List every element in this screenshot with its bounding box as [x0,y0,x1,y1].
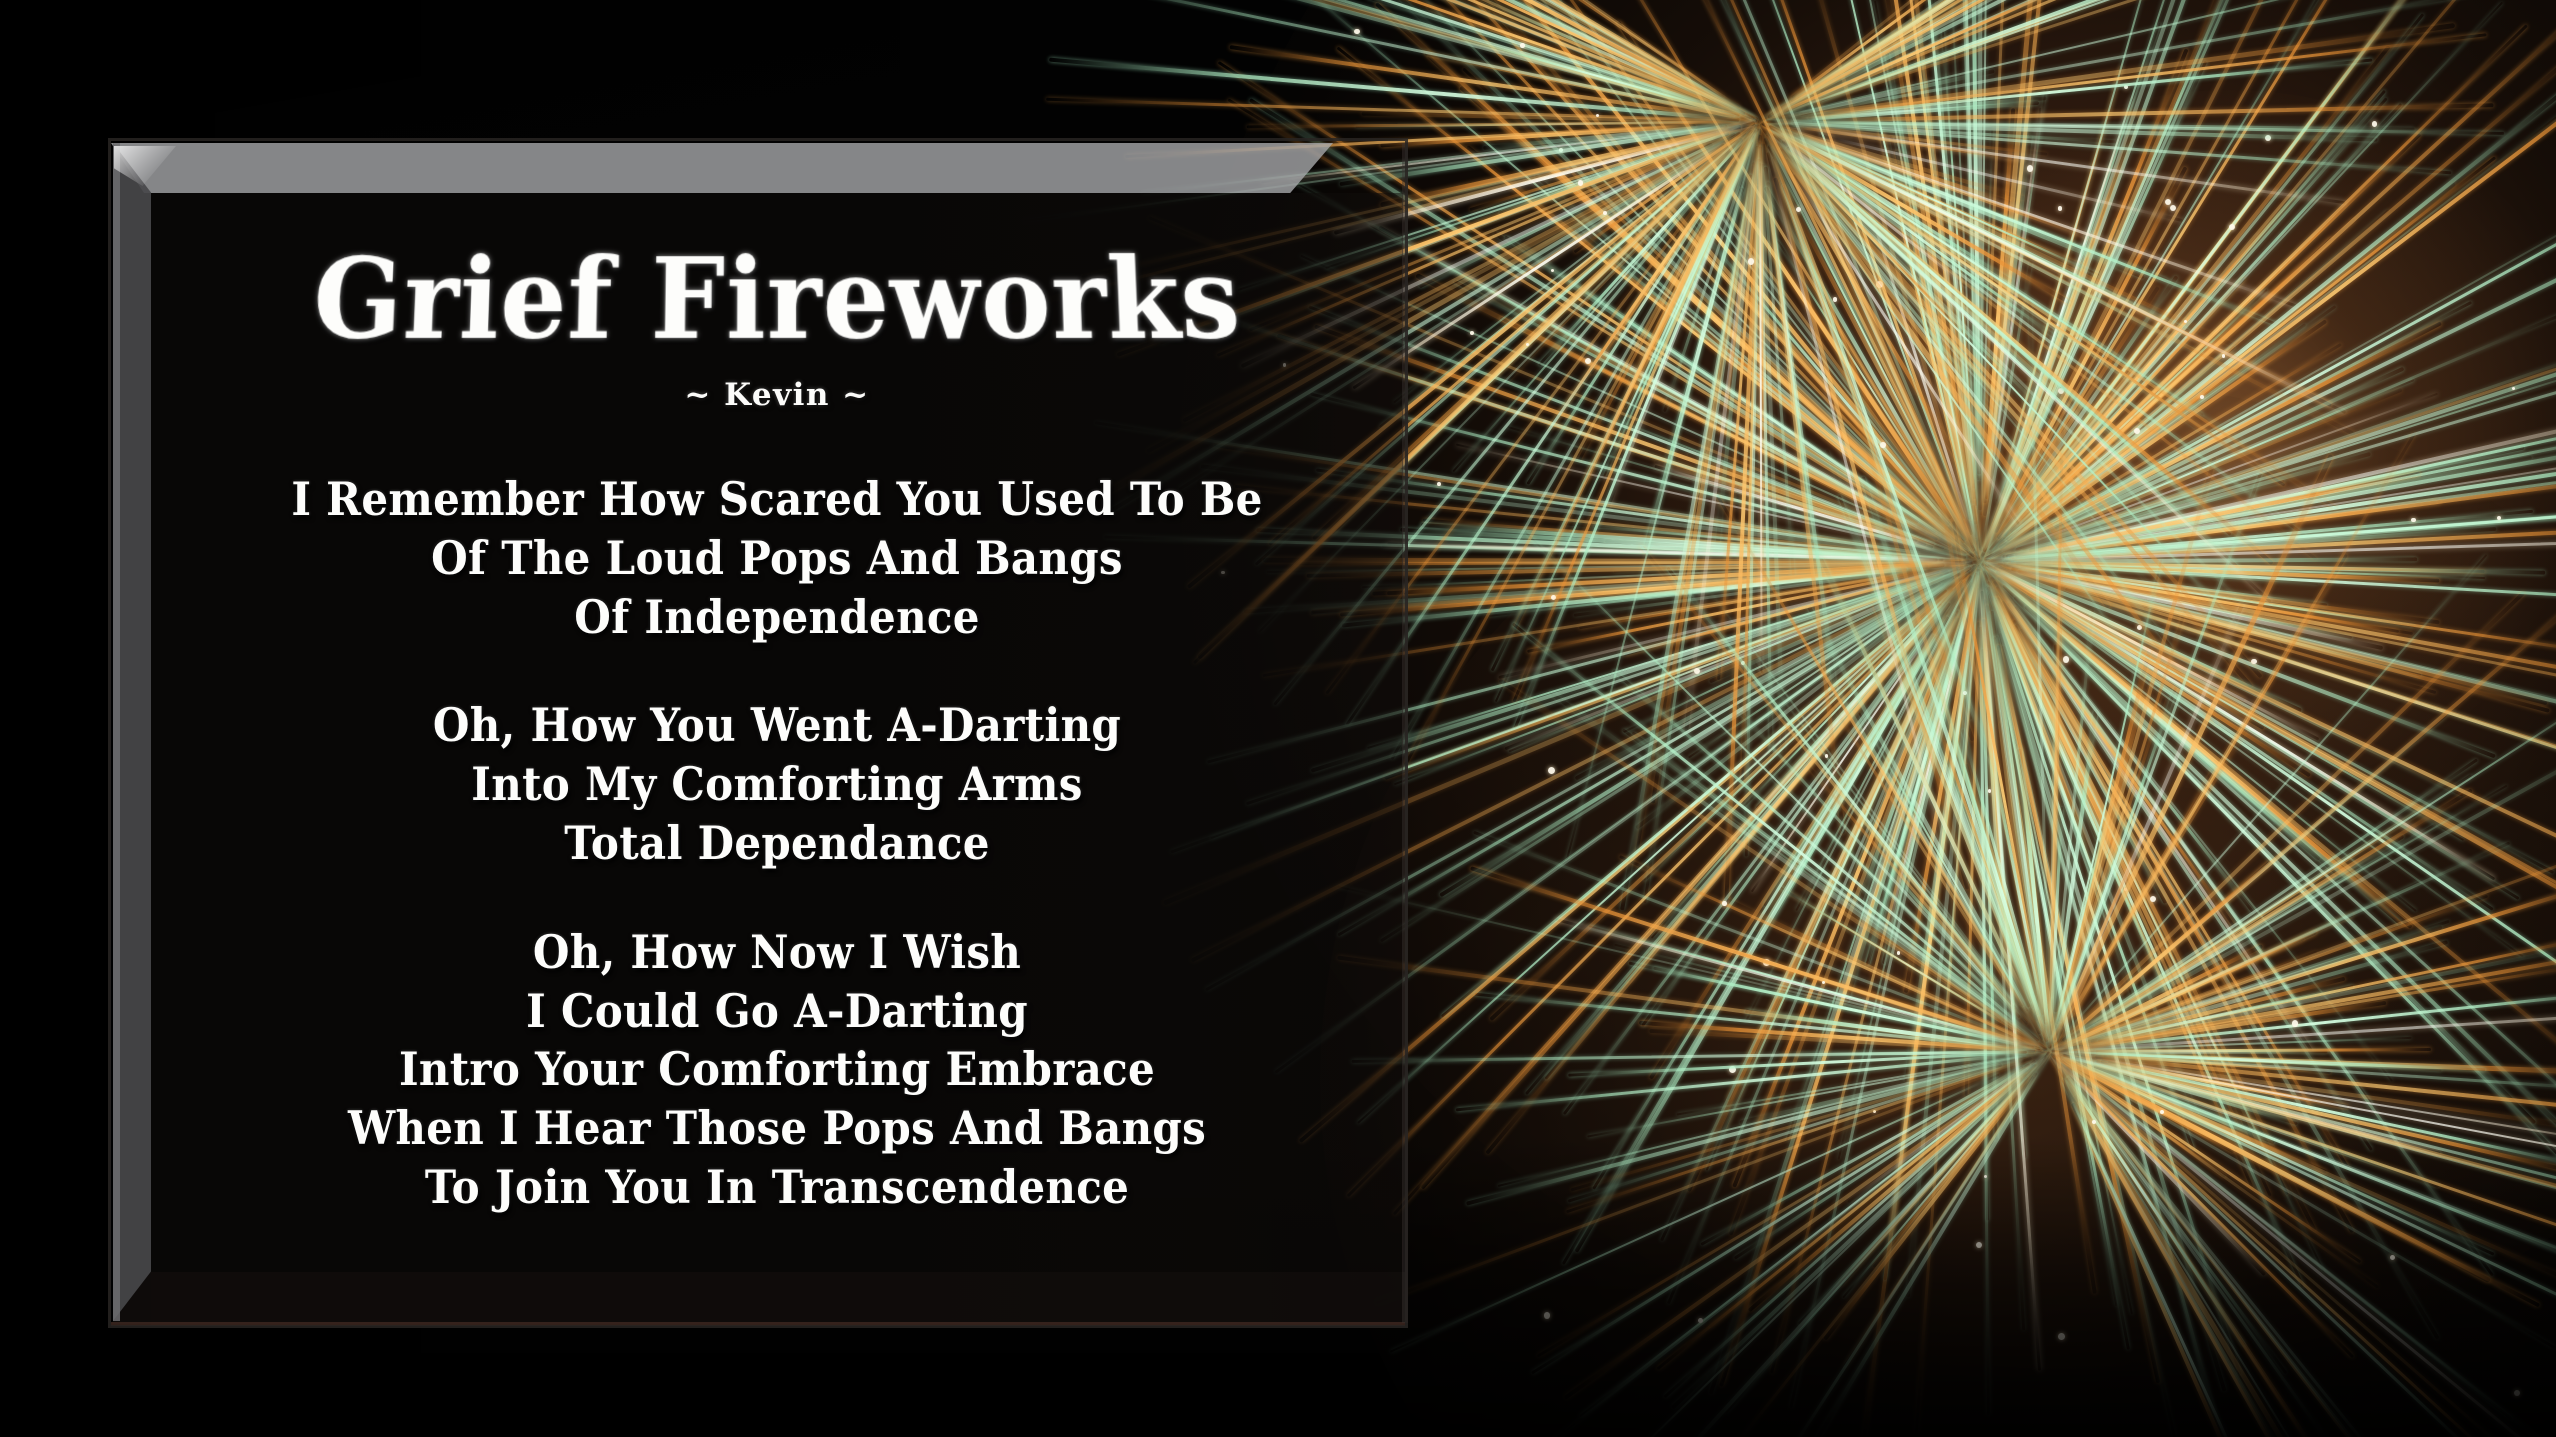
firework-spark-streak [1586,461,1967,559]
firework-spark-streak [1763,0,2299,119]
firework-spark-streak [1666,566,2016,1008]
firework-ember [1551,595,1556,600]
firework-spark-streak [1881,859,2022,1019]
firework-ember [1596,114,1599,117]
firework-ember [1873,1110,1876,1113]
firework-spark-streak [1766,152,1945,854]
firework-ember [2222,354,2226,358]
firework-ember [1880,442,1885,447]
firework-spark-streak [1745,581,1971,1021]
firework-spark-streak [1788,0,2202,107]
firework-spark-streak [1957,0,1980,480]
firework-spark-streak [1591,409,1972,559]
firework-spark-streak [1362,111,1755,124]
firework-spark-streak [1794,156,2056,423]
firework-ember [2058,388,2064,394]
firework-ember [2058,206,2062,210]
firework-spark-streak [2016,340,2556,551]
firework-spark-streak [1982,0,2264,552]
firework-spark-streak [2076,940,2448,1046]
firework-spark-streak [1690,787,2003,1017]
firework-spark-streak [1983,139,2556,561]
firework-spark-streak [1459,85,1927,513]
firework-spark-streak [2003,277,2246,537]
firework-spark-streak [2057,881,2421,1050]
firework-spark-streak [1425,51,1757,123]
firework-spark-streak [1242,0,1746,116]
firework-spark-streak [1786,146,1962,312]
firework-spark-streak [1952,181,1978,509]
firework-spark-streak [1791,0,2405,103]
firework-spark-streak [1801,152,2306,537]
firework-spark-streak [1758,75,1968,531]
firework-spark-streak [1904,561,1981,848]
poem-line: Intro Your Comforting Embrace [151,1039,1403,1103]
firework-ember [1729,1066,1736,1073]
firework-spark-streak [1996,258,2208,539]
firework-spark-streak [1930,569,1980,935]
firework-spark-streak [2086,937,2304,1037]
firework-spark-streak [1508,426,1954,555]
firework-spark-streak [1797,139,2160,321]
firework-spark-streak [1786,568,1979,1142]
poem-title: Grief Fireworks [145,190,1409,357]
firework-spark-streak [1971,504,2048,1025]
firework-spark-streak [2012,568,2556,717]
firework-spark-streak [1638,1053,2016,1093]
firework-spark-streak [1387,561,1965,596]
firework-spark-streak [1402,160,1739,769]
firework-spark-streak [1427,55,1935,521]
firework-spark-streak [1980,627,1989,1221]
firework-spark-streak [1781,140,2232,537]
firework-spark-streak [1435,0,1952,526]
firework-spark-streak [1881,628,2048,1044]
firework-spark-streak [1768,125,2190,334]
firework-spark-streak [1984,600,2028,915]
firework-spark-streak [1639,544,2016,1008]
firework-ember [2292,1020,2298,1026]
firework-spark-streak [2072,714,2447,1033]
firework-spark-streak [1751,630,1933,892]
firework-spark-streak [1897,0,1976,499]
firework-spark-streak [2078,932,2556,1047]
firework-spark-streak [1685,143,1759,731]
firework-spark-streak [2009,354,2256,540]
firework-spark-streak [1448,0,1936,501]
firework-spark-streak [1654,465,1933,549]
firework-spark-streak [1413,561,1980,970]
firework-spark-streak [1473,831,2019,1041]
firework-ember [2134,428,2140,434]
firework-spark-streak [1347,573,1969,1197]
firework-spark-streak [1761,122,2285,487]
firework-spark-streak [2052,454,2333,1044]
firework-spark-streak [1577,132,1747,280]
firework-spark-streak [1782,127,2014,205]
firework-spark-streak [2014,588,2417,912]
firework-spark-streak [2011,561,2485,574]
firework-spark-streak [1825,772,2017,1010]
firework-spark-streak [2077,1051,2486,1071]
firework-spark-streak [2069,499,2441,552]
firework-spark-streak [2084,705,2556,1034]
firework-spark-streak [2067,943,2556,1050]
firework-ember [2124,888,2127,891]
firework-spark-streak [1456,1054,2006,1111]
poem-line: I Remember How Scared You Used To Be [151,469,1403,533]
poem-stanza-3: Oh, How Now I Wish I Could Go A-Darting … [151,874,1403,1218]
firework-spark-streak [1466,145,1932,523]
firework-ember [2092,1120,2096,1124]
firework-spark-streak [1639,1021,2035,1053]
firework-spark-streak [2070,925,2443,1047]
firework-spark-streak [2069,1037,2412,1052]
firework-spark-streak [1236,0,1712,97]
firework-spark-streak [1794,139,2014,258]
firework-spark-streak [1981,261,2032,547]
firework-spark-streak [1987,564,2465,841]
firework-spark-streak [2059,894,2488,1049]
firework-spark-streak [1629,962,1996,1041]
firework-ember [1578,180,1583,185]
firework-spark-streak [1982,220,2119,553]
firework-ember [1897,951,1901,955]
firework-spark-streak [2035,218,2356,511]
firework-spark-streak [1357,603,1933,1124]
firework-spark-streak [1741,0,1981,560]
firework-spark-streak [1490,564,1978,1021]
firework-spark-streak [1465,38,1696,104]
firework-spark-streak [1989,107,2041,482]
firework-spark-streak [2049,559,2162,1050]
firework-spark-streak [1983,451,2556,562]
firework-spark-streak [1985,649,2027,1158]
firework-spark-streak [1469,134,1740,311]
firework-spark-streak [1582,0,1950,509]
firework-spark-streak [1955,565,1981,840]
firework-spark-streak [1588,1050,2050,1137]
firework-spark-streak [1504,50,1751,121]
firework-spark-streak [2061,861,2271,1043]
firework-spark-streak [1928,443,2051,1046]
firework-spark-streak [1592,635,1936,1190]
firework-spark-streak [1819,0,2269,102]
firework-ember [1741,661,1745,665]
firework-spark-streak [2054,845,2140,1041]
firework-spark-streak [2065,698,2165,1000]
firework-spark-streak [1501,163,1712,349]
firework-spark-streak [2030,156,2496,523]
firework-spark-streak [1485,601,1948,1155]
firework-spark-streak [1979,840,2049,1045]
firework-ember [1551,269,1554,272]
firework-spark-streak [1996,598,2288,1196]
firework-spark-streak [1987,581,2182,1029]
firework-spark-streak [1860,183,1973,535]
firework-spark-streak [1603,163,1743,477]
firework-spark-streak [1800,167,2262,679]
firework-spark-streak [2031,589,2556,980]
firework-spark-streak [2070,554,2347,1016]
firework-spark-streak [1792,101,2038,122]
firework-spark-streak [1819,0,2394,93]
firework-spark-streak [1568,1051,2027,1077]
firework-spark-streak [2103,1054,2331,1074]
firework-spark-streak [1367,0,1756,121]
firework-spark-streak [1815,58,2373,117]
firework-spark-streak [1579,570,1923,630]
firework-spark-streak [1380,124,1696,148]
firework-spark-streak [1456,443,1927,550]
firework-spark-streak [2050,920,2449,1053]
firework-spark-streak [2050,807,2063,1024]
firework-spark-streak [1780,129,2145,280]
firework-spark-streak [2063,606,2188,1007]
poem-line: Of Independence [151,586,1403,650]
firework-spark-streak [1098,0,1741,116]
firework-spark-streak [1247,120,1754,128]
firework-spark-streak [1778,0,2137,111]
firework-spark-streak [1644,612,1926,881]
firework-spark-streak [1998,319,2327,550]
poem-line: I Could Go A-Darting [151,980,1403,1044]
firework-spark-streak [1049,58,1740,122]
firework-spark-streak [2033,527,2496,560]
firework-spark-streak [1980,48,2189,559]
firework-ember [2124,85,2128,89]
firework-spark-streak [2049,573,2556,698]
firework-spark-streak [2054,823,2437,1050]
firework-spark-streak [2002,584,2556,1162]
firework-spark-streak [2016,562,2440,583]
firework-spark-streak [1337,885,2017,1045]
firework-ember [1822,981,1825,984]
firework-spark-streak [1524,531,2012,1014]
firework-spark-streak [1812,145,2238,349]
firework-spark-streak [1772,777,2011,1013]
firework-spark-streak [2059,580,2547,705]
firework-spark-streak [1588,925,2014,1043]
firework-spark-streak [2054,819,2106,1028]
firework-spark-streak [1996,0,2187,502]
firework-spark-streak [2037,523,2556,561]
firework-spark-streak [1984,510,2533,562]
firework-spark-streak [1997,565,2437,694]
firework-ember [2411,518,2416,523]
firework-spark-streak [2051,379,2414,532]
firework-spark-streak [1362,564,1893,589]
firework-spark-streak [1985,97,2031,499]
firework-spark-streak [1994,167,2188,534]
firework-spark-streak [1988,134,2032,480]
firework-spark-streak [1269,0,1756,121]
firework-spark-streak [1705,0,1978,555]
firework-spark-streak [1816,157,2189,402]
firework-spark-streak [1760,164,1786,752]
firework-spark-streak [2061,768,2216,1030]
firework-spark-streak [1983,323,2307,560]
firework-spark-streak [1301,0,1709,105]
firework-spark-streak [1961,729,2036,996]
firework-spark-streak [1984,561,2550,712]
firework-spark-streak [1306,0,1716,97]
firework-spark-streak [2065,588,2556,816]
firework-spark-streak [1653,582,1963,950]
firework-spark-streak [2055,648,2151,1024]
firework-ember [2184,320,2187,323]
firework-spark-streak [1799,161,2286,648]
firework-spark-streak [1806,157,2317,560]
firework-spark-streak [1652,924,2038,1049]
firework-spark-streak [1797,0,2068,100]
firework-spark-streak [1997,576,2409,926]
firework-spark-streak [1904,577,1979,1082]
firework-spark-streak [1719,619,1916,796]
firework-spark-streak [1980,562,2402,925]
firework-spark-streak [1483,124,1723,150]
firework-spark-streak [1990,568,2524,958]
firework-spark-streak [1310,393,1966,559]
firework-spark-streak [1481,0,1958,536]
firework-spark-streak [1555,918,2041,1051]
firework-spark-streak [1994,596,2145,908]
firework-spark-streak [2005,13,2425,531]
firework-spark-streak [1337,47,1975,558]
firework-spark-streak [1985,539,2373,563]
burst-core-glow [1850,90,2556,790]
firework-spark-streak [1574,574,1954,780]
firework-spark-streak [1754,662,2029,1023]
firework-spark-streak [1803,0,2112,99]
firework-spark-streak [1742,588,1954,808]
firework-spark-streak [1230,45,1713,118]
firework-ember [2137,625,2142,630]
firework-spark-streak [1650,580,1963,939]
firework-spark-streak [1985,321,2442,560]
firework-spark-streak [2013,61,2207,485]
firework-spark-streak [2059,591,2525,1043]
firework-spark-streak [1988,587,2200,1123]
firework-spark-streak [1982,108,2014,504]
firework-spark-streak [1998,566,2556,821]
firework-spark-streak [1873,602,2036,1011]
firework-spark-streak [1397,0,1940,518]
firework-spark-streak [1131,0,1757,121]
firework-spark-streak [1964,763,2036,997]
firework-spark-streak [1384,574,1944,780]
firework-spark-streak [1468,0,1979,559]
firework-spark-streak [1378,226,1952,548]
firework-spark-streak [1992,581,2236,930]
firework-spark-streak [2013,625,2167,904]
firework-spark-streak [1586,198,1947,532]
firework-spark-streak [1508,566,1965,752]
firework-spark-streak [1990,755,2044,1015]
firework-spark-streak [1996,586,2373,1151]
firework-spark-streak [1762,164,1795,576]
firework-spark-streak [1797,133,2296,307]
firework-spark-streak [2070,950,2317,1045]
firework-spark-streak [1978,217,2106,563]
firework-spark-streak [1614,562,1899,572]
firework-spark-streak [1791,0,1997,99]
firework-spark-streak [2050,912,2354,1053]
firework-spark-streak [1803,142,2346,414]
firework-spark-streak [1995,599,2099,840]
firework-spark-streak [1577,142,1750,462]
firework-spark-streak [1981,561,2302,712]
firework-spark-streak [2001,572,2245,702]
firework-spark-streak [1834,901,2039,1045]
firework-ember [1520,43,1524,47]
firework-spark-streak [1726,591,1967,1101]
firework-spark-streak [1499,317,1938,541]
firework-spark-streak [1773,177,1969,890]
firework-spark-streak [2053,468,2264,1040]
firework-spark-streak [1759,146,1773,754]
firework-spark-streak [1687,453,1944,550]
firework-spark-streak [1504,236,1969,555]
firework-spark-streak [1885,51,1971,501]
firework-spark-streak [2085,661,2556,1029]
firework-spark-streak [1311,560,1978,614]
firework-spark-streak [1895,151,1966,484]
firework-spark-streak [2015,469,2556,560]
firework-spark-streak [2002,0,2278,493]
firework-ember [2027,165,2033,171]
firework-spark-streak [1763,186,1975,553]
firework-spark-streak [2006,182,2457,543]
poem-line: Into My Comforting Arms [151,754,1403,818]
firework-spark-streak [1693,221,1966,544]
firework-spark-streak [1425,0,1725,98]
firework-spark-streak [1810,153,2013,283]
firework-spark-streak [2101,1059,2348,1108]
firework-spark-streak [2063,1054,2286,1118]
firework-spark-streak [1808,0,2405,91]
firework-spark-streak [2050,301,2472,526]
firework-spark-streak [1838,626,1966,1159]
firework-spark-streak [2049,343,2342,521]
firework-spark-streak [1989,576,2162,817]
firework-spark-streak [1949,0,1980,542]
firework-spark-streak [2088,585,2556,1020]
poem-content: Grief Fireworks ~ Kevin ~ I Remember How… [151,193,1403,1325]
firework-spark-streak [1980,130,1993,516]
firework-spark-streak [1770,127,2338,510]
firework-spark-streak [1983,599,2039,1021]
firework-spark-streak [1985,568,2393,1082]
firework-ember [2165,199,2171,205]
firework-spark-streak [1773,992,1997,1041]
firework-spark-streak [1352,1050,2037,1063]
firework-spark-streak [1375,2,1970,552]
firework-spark-streak [2018,749,2052,1049]
firework-spark-streak [1573,123,1756,253]
firework-spark-streak [1649,574,1973,1080]
firework-spark-streak [1709,563,1975,684]
firework-spark-streak [1423,518,1923,559]
firework-spark-streak [1367,579,1917,749]
firework-spark-streak [2022,561,2485,579]
firework-spark-streak [1804,125,2048,155]
firework-spark-streak [1987,564,2555,874]
firework-spark-streak [2095,1055,2556,1127]
firework-spark-streak [2003,66,2124,477]
firework-spark-streak [2038,614,2556,1159]
firework-spark-streak [1984,565,2339,877]
